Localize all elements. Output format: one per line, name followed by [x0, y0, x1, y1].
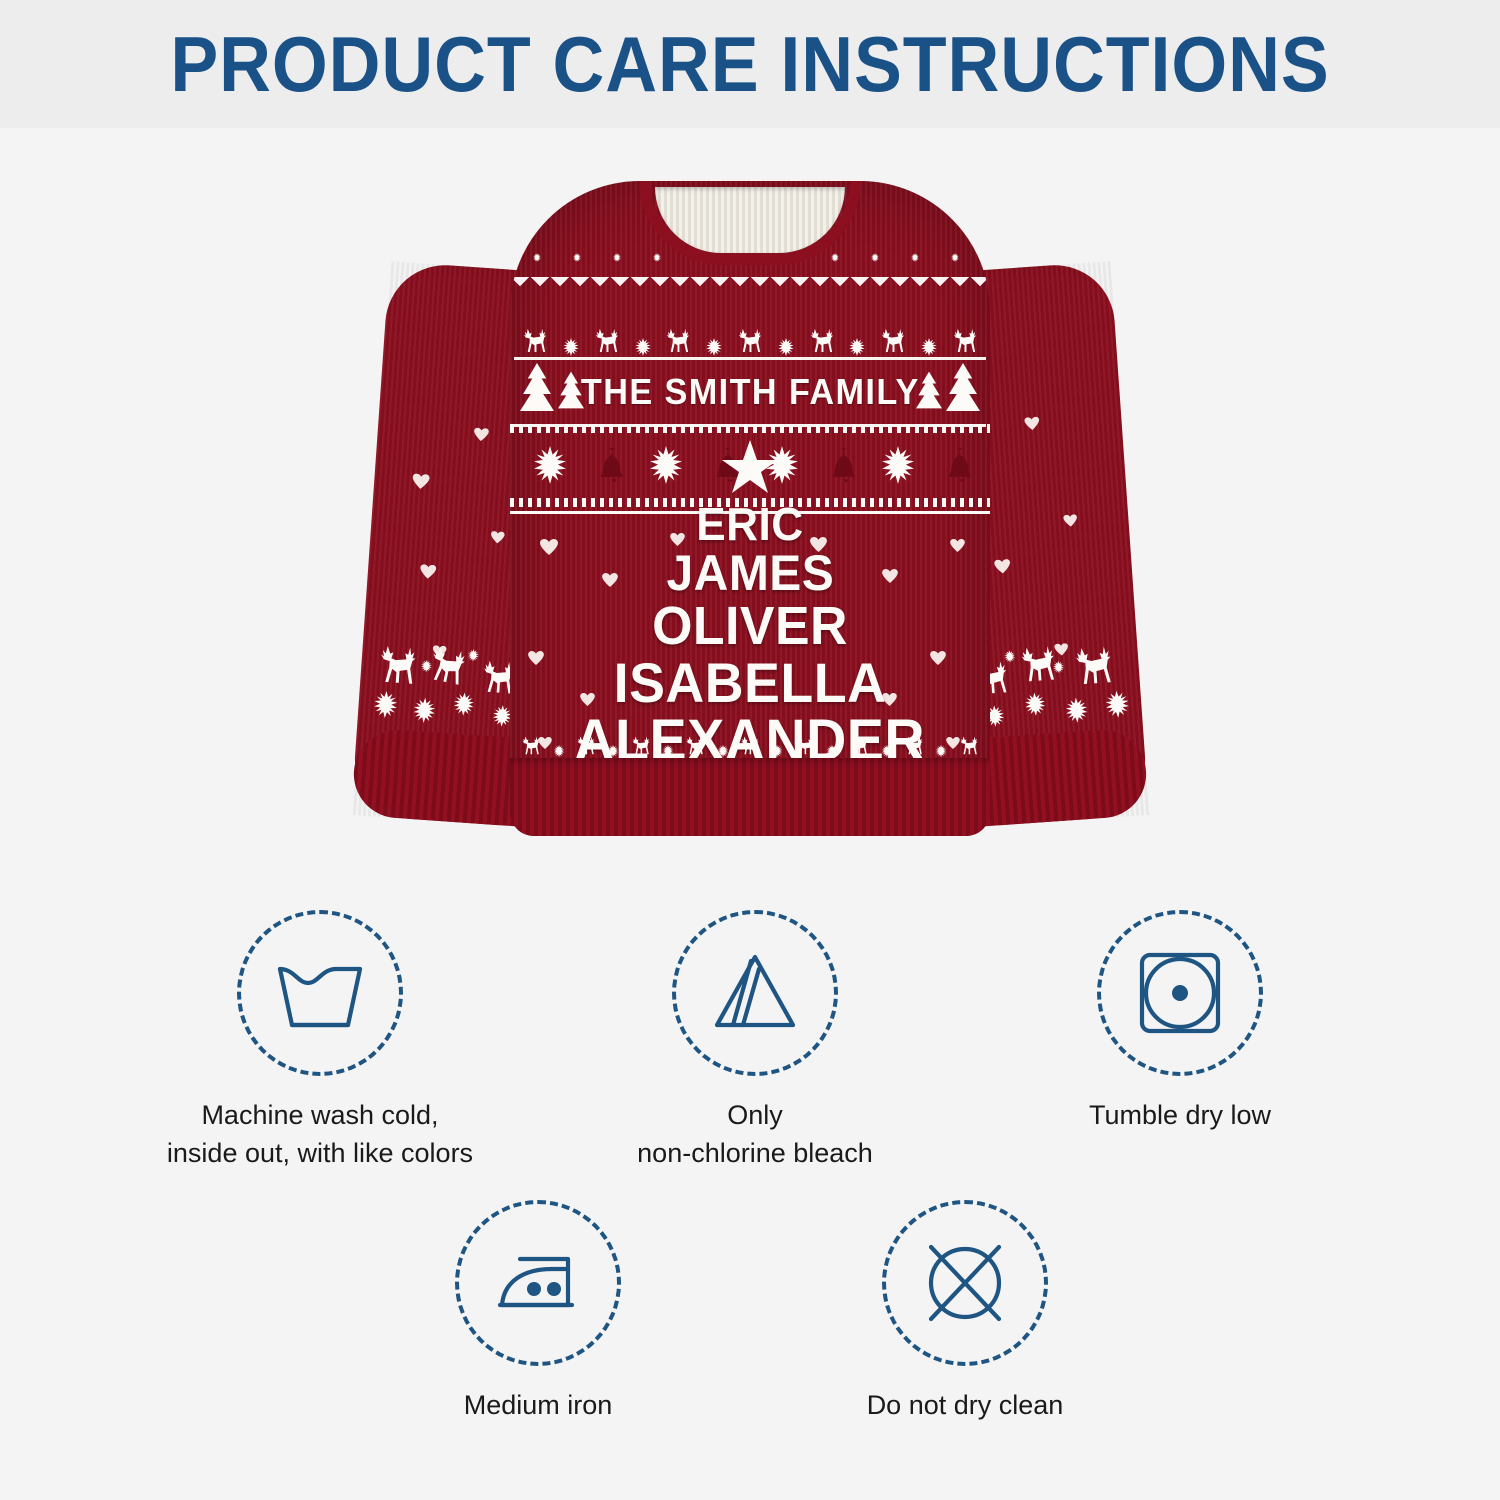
snowflake-icon [880, 744, 894, 758]
reindeer-icon [880, 323, 906, 357]
heart-motif [412, 473, 430, 489]
product-image-area: THE SMITH FAMILY [0, 128, 1500, 888]
heart-motif [1054, 643, 1069, 656]
reindeer-icon [685, 732, 705, 758]
christmas-tree-icon [520, 363, 554, 411]
reindeer-icon [959, 732, 979, 758]
heart-motif [1024, 417, 1040, 431]
heart-motif [490, 531, 505, 544]
care-item-bleach: Only non-chlorine bleach [590, 910, 920, 1173]
snowflake-icon [770, 744, 784, 758]
care-label: Medium iron [373, 1386, 703, 1424]
iron-icon [490, 1243, 586, 1323]
snowflake-icon [776, 337, 796, 357]
tumble-dry-icon [1134, 947, 1226, 1039]
heart-motif [1063, 514, 1078, 527]
wash-basin-icon [272, 949, 368, 1037]
bottom-reindeer-band [510, 706, 990, 758]
sweater-hem-rib [510, 758, 990, 836]
heart-motif [994, 559, 1011, 574]
care-icon-circle [1097, 910, 1263, 1076]
sweater-torso: THE SMITH FAMILY [510, 181, 990, 836]
reindeer-band [510, 297, 990, 357]
name-line-3: OLIVER [652, 599, 848, 654]
care-item-iron: Medium iron [373, 1200, 703, 1424]
care-label: Do not dry clean [800, 1386, 1130, 1424]
star-icon [721, 439, 779, 495]
name-line-4: ISABELLA [614, 654, 887, 711]
page-header: PRODUCT CARE INSTRUCTIONS [0, 0, 1500, 128]
snowflake-icon [633, 337, 653, 357]
snowflake-icon [934, 744, 948, 758]
heart-motif [432, 645, 447, 658]
heart-motif [420, 564, 437, 579]
reindeer-icon [665, 323, 691, 357]
snowflake-icon [704, 337, 724, 357]
dotted-border [510, 424, 990, 433]
care-icon-circle [672, 910, 838, 1076]
snowflake-icon [561, 337, 581, 357]
care-label: Tumble dry low [1015, 1096, 1345, 1134]
care-item-tumble-dry: Tumble dry low [1015, 910, 1345, 1134]
care-icon-circle [237, 910, 403, 1076]
reindeer-icon [737, 323, 763, 357]
snowflake-icon [847, 337, 867, 357]
snowflake-icon [661, 744, 675, 758]
reindeer-icon [576, 732, 596, 758]
bleach-triangle-icon [707, 949, 803, 1037]
no-dry-clean-icon [917, 1235, 1013, 1331]
name-line-1: ERIC [696, 501, 803, 548]
reindeer-icon [849, 732, 869, 758]
care-label: Machine wash cold, inside out, with like… [155, 1096, 485, 1173]
care-icon-circle [882, 1200, 1048, 1366]
care-instructions-grid: Machine wash cold, inside out, with like… [0, 888, 1500, 1500]
care-label: Only non-chlorine bleach [590, 1096, 920, 1173]
reindeer-icon [521, 732, 541, 758]
care-item-no-dry-clean: Do not dry clean [800, 1200, 1130, 1424]
snowflake-icon [552, 744, 566, 758]
care-icon-circle [455, 1200, 621, 1366]
reindeer-icon [904, 732, 924, 758]
snowflake-icon [606, 744, 620, 758]
reindeer-icon [631, 732, 651, 758]
reindeer-icon [952, 323, 978, 357]
reindeer-icon [740, 732, 760, 758]
page-title: PRODUCT CARE INSTRUCTIONS [170, 25, 1329, 103]
sweater-product-photo: THE SMITH FAMILY [370, 173, 1130, 853]
snowflake-icon [716, 744, 730, 758]
christmas-tree-icon [558, 371, 584, 409]
reindeer-icon [594, 323, 620, 357]
reindeer-icon [795, 732, 815, 758]
zigzag-border-top [510, 277, 990, 294]
reindeer-icon [809, 323, 835, 357]
snowflake-icon [825, 744, 839, 758]
christmas-tree-icon [916, 371, 942, 409]
name-line-2: JAMES [666, 548, 834, 599]
family-name-text: THE SMITH FAMILY [581, 371, 920, 413]
diamond-row [510, 251, 990, 273]
reindeer-icon [522, 323, 548, 357]
snowflake-icon [919, 337, 939, 357]
heart-motif [473, 427, 489, 441]
christmas-tree-icon [946, 363, 980, 411]
care-item-machine-wash: Machine wash cold, inside out, with like… [155, 910, 485, 1173]
